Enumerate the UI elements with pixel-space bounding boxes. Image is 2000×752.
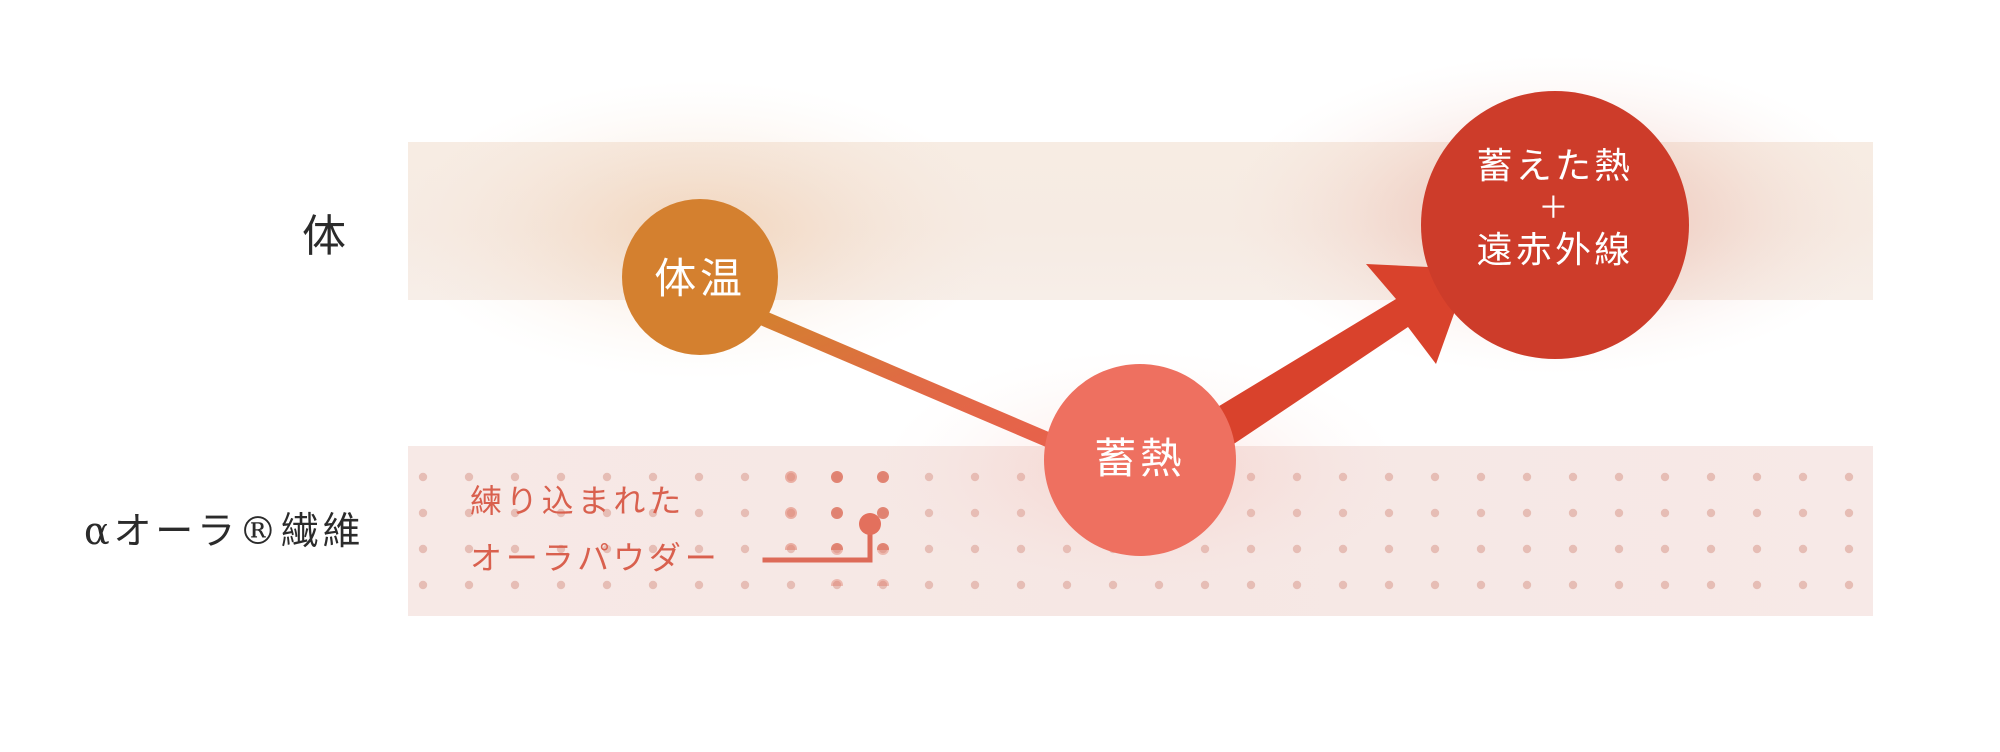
layer-label-body: 体 <box>302 200 350 264</box>
node-body-temperature <box>622 199 778 355</box>
diagram-svg <box>0 0 2000 752</box>
diagram-canvas: 体 αオーラ®繊維 体温 蓄熱 蓄えた熱 ＋ 遠赤外線 練り込まれた オーラパウ… <box>0 0 2000 752</box>
node-heat-storage <box>1044 364 1236 556</box>
powder-annotation-line-2: オーラパウダー <box>470 530 721 587</box>
node-stored-heat <box>1421 91 1689 359</box>
powder-annotation: 練り込まれた オーラパウダー <box>470 473 721 587</box>
powder-annotation-line-1: 練り込まれた <box>470 473 721 530</box>
layer-label-fiber: αオーラ®繊維 <box>84 500 364 555</box>
